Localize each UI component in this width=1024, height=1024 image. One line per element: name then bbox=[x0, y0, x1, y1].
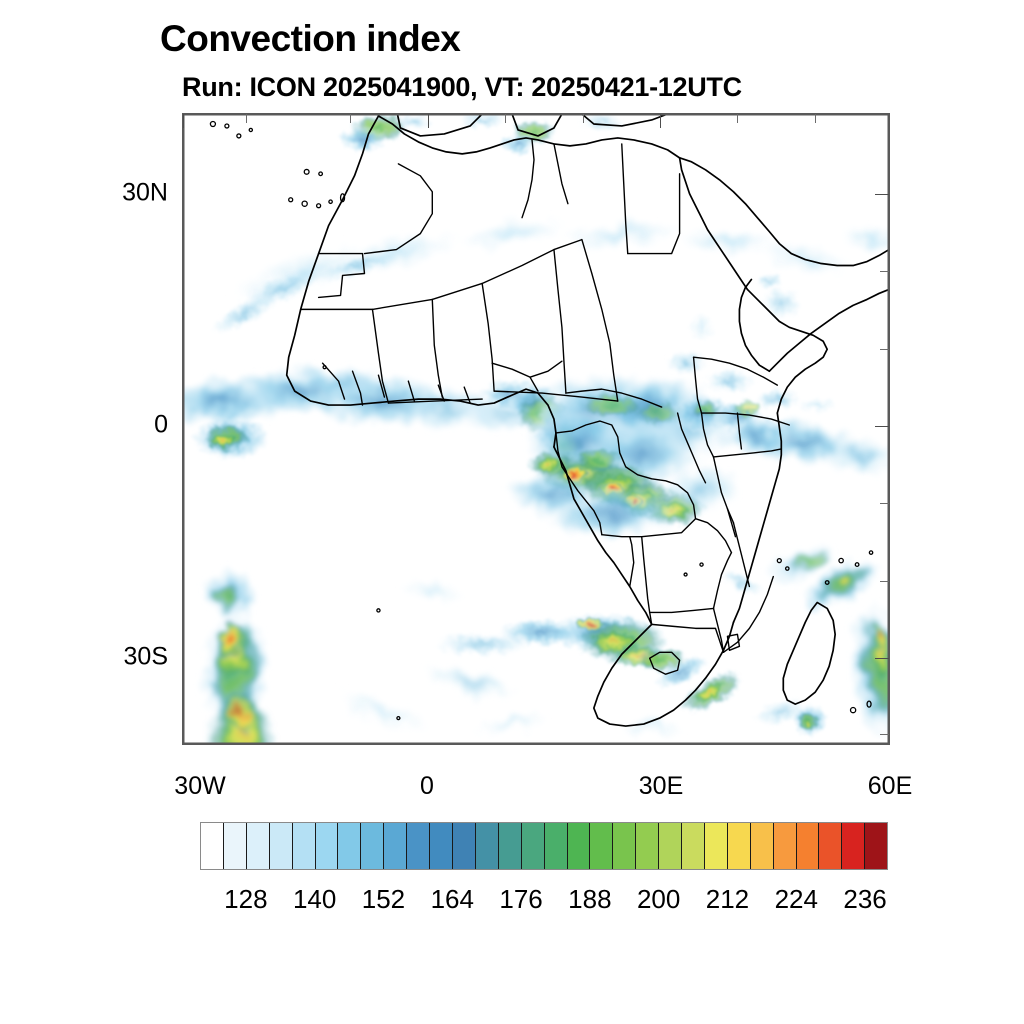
x-axis-label-0: 0 bbox=[420, 772, 434, 801]
y-axis-label-30n: 30N bbox=[100, 179, 168, 208]
x-axis-label-30w: 30W bbox=[174, 772, 225, 801]
x-axis-label-30e: 30E bbox=[639, 772, 683, 801]
colorbar-cell-7 bbox=[361, 823, 384, 869]
colorbar-cell-29 bbox=[865, 823, 887, 869]
y-axis-label-0: 0 bbox=[100, 411, 168, 440]
colorbar-cell-4 bbox=[293, 823, 316, 869]
colorbar-cell-0 bbox=[201, 823, 224, 869]
y-axis-label-30s: 30S bbox=[100, 643, 168, 672]
colorbar-label-236: 236 bbox=[843, 884, 886, 915]
y-tick-minor-10s bbox=[880, 503, 889, 504]
colorbar-cell-16 bbox=[568, 823, 591, 869]
colorbar-label-224: 224 bbox=[775, 884, 818, 915]
colorbar-cell-15 bbox=[545, 823, 568, 869]
colorbar[interactable] bbox=[200, 822, 888, 870]
colorbar-cell-25 bbox=[774, 823, 797, 869]
colorbar-label-164: 164 bbox=[431, 884, 474, 915]
colorbar-label-140: 140 bbox=[293, 884, 336, 915]
colorbar-label-212: 212 bbox=[706, 884, 749, 915]
colorbar-cell-9 bbox=[407, 823, 430, 869]
colorbar-cell-3 bbox=[270, 823, 293, 869]
colorbar-cell-21 bbox=[682, 823, 705, 869]
colorbar-cell-26 bbox=[797, 823, 820, 869]
x-axis-label-60e: 60E bbox=[868, 772, 912, 801]
y-tick-minor-40s bbox=[880, 734, 889, 735]
y-tick-30s bbox=[875, 658, 889, 659]
colorbar-cell-28 bbox=[842, 823, 865, 869]
convection-index-map-page: Convection index Run: ICON 2025041900, V… bbox=[0, 0, 1024, 1024]
colorbar-label-188: 188 bbox=[568, 884, 611, 915]
map-plot-area[interactable] bbox=[182, 113, 890, 745]
colorbar-cell-14 bbox=[522, 823, 545, 869]
y-tick-0 bbox=[875, 426, 889, 427]
colorbar-cell-6 bbox=[338, 823, 361, 869]
colorbar-cell-5 bbox=[316, 823, 339, 869]
colorbar-label-152: 152 bbox=[362, 884, 405, 915]
x-tick-minor-40e bbox=[737, 114, 738, 123]
colorbar-label-176: 176 bbox=[499, 884, 542, 915]
colorbar-cell-17 bbox=[590, 823, 613, 869]
colorbar-cell-8 bbox=[384, 823, 407, 869]
colorbar-cell-27 bbox=[819, 823, 842, 869]
y-tick-minor-20n bbox=[880, 271, 889, 272]
x-tick-minor-20e bbox=[583, 114, 584, 123]
run-valid-time-subtitle: Run: ICON 2025041900, VT: 20250421-12UTC bbox=[182, 72, 742, 103]
x-tick-0 bbox=[428, 114, 429, 128]
x-tick-60e bbox=[889, 114, 890, 128]
y-tick-minor-10n bbox=[880, 349, 889, 350]
colorbar-label-200: 200 bbox=[637, 884, 680, 915]
page-title: Convection index bbox=[160, 18, 460, 60]
colorbar-cell-23 bbox=[728, 823, 751, 869]
colorbar-cell-12 bbox=[476, 823, 499, 869]
x-tick-minor-50e bbox=[815, 114, 816, 123]
colorbar-cell-2 bbox=[247, 823, 270, 869]
colorbar-cell-11 bbox=[453, 823, 476, 869]
y-tick-30n bbox=[875, 194, 889, 195]
x-tick-minor-20w bbox=[246, 114, 247, 123]
colorbar-cell-22 bbox=[705, 823, 728, 869]
colorbar-cell-1 bbox=[224, 823, 247, 869]
colorbar-cell-13 bbox=[499, 823, 522, 869]
x-tick-30w bbox=[183, 114, 184, 128]
x-tick-minor-10w bbox=[350, 114, 351, 123]
x-tick-30e bbox=[660, 114, 661, 128]
colorbar-cell-19 bbox=[636, 823, 659, 869]
colorbar-cell-10 bbox=[430, 823, 453, 869]
colorbar-label-128: 128 bbox=[224, 884, 267, 915]
colorbar-cell-18 bbox=[613, 823, 636, 869]
colorbar-cell-24 bbox=[751, 823, 774, 869]
colorbar-cell-20 bbox=[659, 823, 682, 869]
y-tick-minor-20s bbox=[880, 581, 889, 582]
map-raster bbox=[183, 114, 889, 744]
x-tick-minor-10e bbox=[505, 114, 506, 123]
